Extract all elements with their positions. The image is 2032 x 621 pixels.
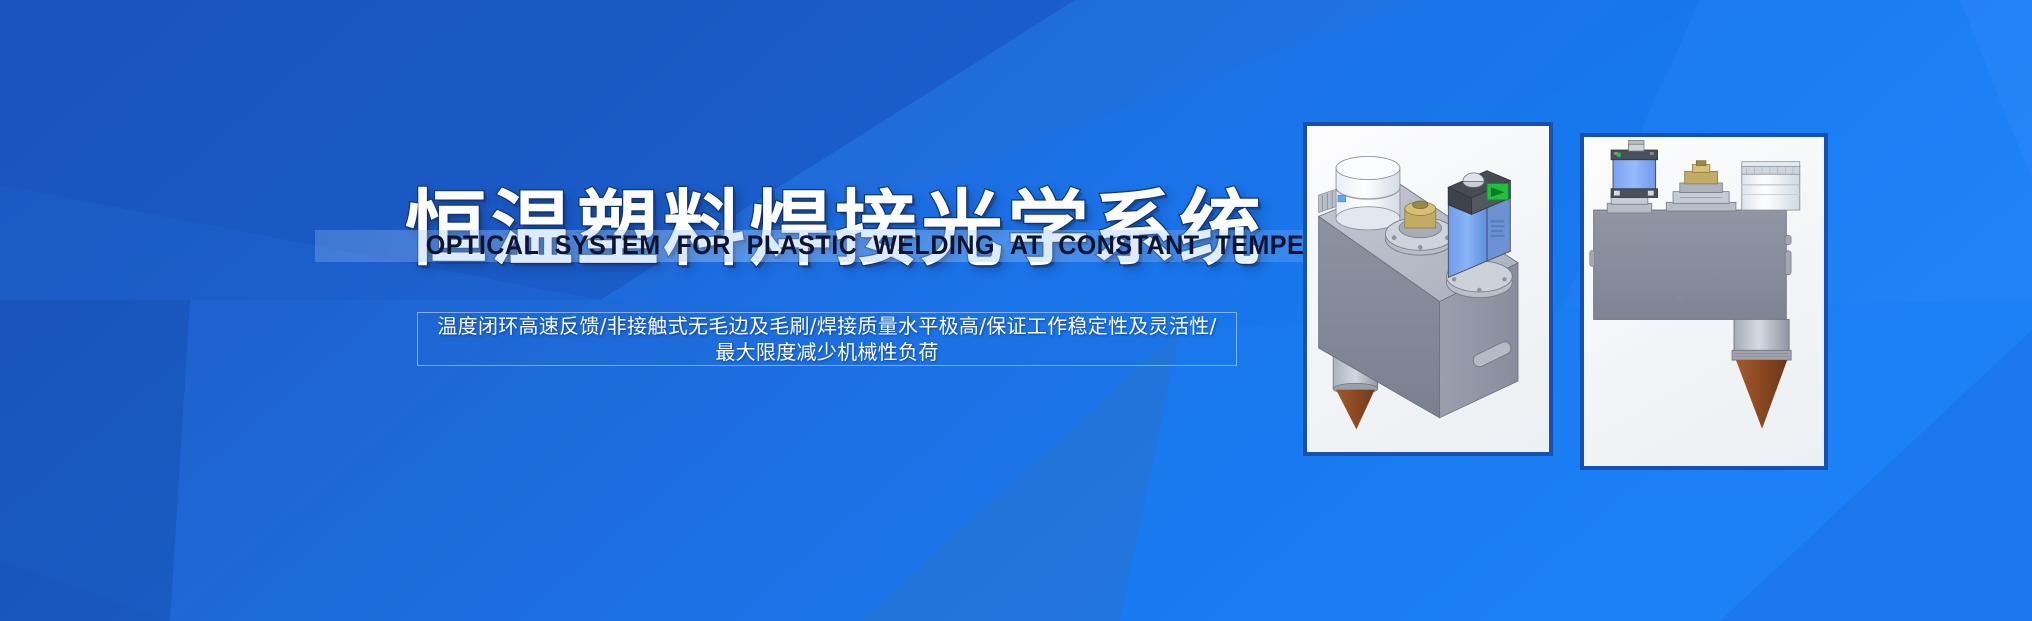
- sensor-module: [1607, 140, 1657, 213]
- cad-render-front: [1584, 137, 1824, 466]
- hero-banner: 恒温塑料焊接光学系统 OPTICAL SYSTEM FOR PLASTIC WE…: [0, 0, 2032, 621]
- sensor-module: [1446, 171, 1512, 298]
- brass-adjuster: [1666, 161, 1736, 211]
- cad-render-isometric: [1307, 126, 1549, 452]
- canister: [1742, 162, 1800, 210]
- nozzle-assembly: [1732, 319, 1791, 428]
- product-image-laser-welding-head-front[interactable]: [1580, 133, 1828, 470]
- product-image-laser-welding-head-isometric[interactable]: [1303, 122, 1553, 456]
- flex-connector: [1319, 189, 1336, 212]
